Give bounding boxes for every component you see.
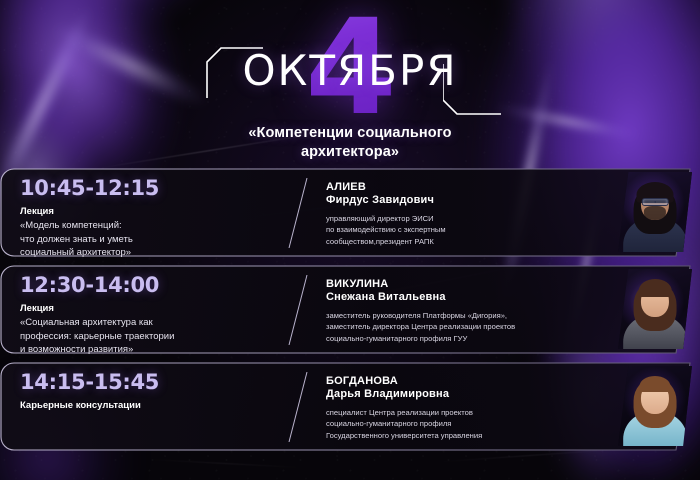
event-type: Лекция — [20, 303, 288, 316]
event-type: Лекция — [20, 206, 288, 219]
event-schedule-list: 10:45-12:15 Лекция «Модель компетенций: … — [0, 168, 700, 459]
speaker-photo — [618, 366, 692, 446]
event-card[interactable]: 14:15-15:45 Карьерные консультации БОГДА… — [0, 362, 700, 451]
subtitle-line-2: архитектора» — [0, 143, 700, 162]
event-description-line: профессия: карьерные траектории — [20, 330, 288, 344]
event-description: «Социальная архитектура как профессия: к… — [20, 316, 288, 357]
event-card[interactable]: 12:30-14:00 Лекция «Социальная архитекту… — [0, 265, 700, 354]
poster-header: 4 ОКТЯБРЯ «Компетенции социального архит… — [0, 8, 700, 160]
event-card[interactable]: 10:45-12:15 Лекция «Модель компетенций: … — [0, 168, 700, 257]
poster-subtitle: «Компетенции социального архитектора» — [0, 124, 700, 162]
event-poster: 4 ОКТЯБРЯ «Компетенции социального архит… — [0, 0, 700, 480]
speaker-photo — [618, 172, 692, 252]
event-description-line: «Модель компетенций: — [20, 219, 288, 233]
speaker-photo — [618, 269, 692, 349]
event-time-column: 14:15-15:45 Карьерные консультации — [0, 362, 288, 451]
event-type: Карьерные консультации — [20, 400, 288, 413]
event-time: 10:45-12:15 — [20, 178, 288, 199]
month-label: ОКТЯБРЯ — [242, 50, 457, 92]
event-time: 12:30-14:00 — [20, 275, 288, 296]
event-description-line: и возможности развития» — [20, 343, 288, 357]
event-description-line: что должен знать и уметь — [20, 233, 288, 247]
subtitle-line-1: «Компетенции социального — [0, 124, 700, 143]
event-description-line: социальный архитектор» — [20, 246, 288, 260]
event-time-column: 12:30-14:00 Лекция «Социальная архитекту… — [0, 265, 288, 354]
event-time-column: 10:45-12:15 Лекция «Модель компетенций: … — [0, 168, 288, 257]
event-description: «Модель компетенций: что должен знать и … — [20, 219, 288, 260]
event-description-line: «Социальная архитектура как — [20, 316, 288, 330]
event-time: 14:15-15:45 — [20, 372, 288, 393]
